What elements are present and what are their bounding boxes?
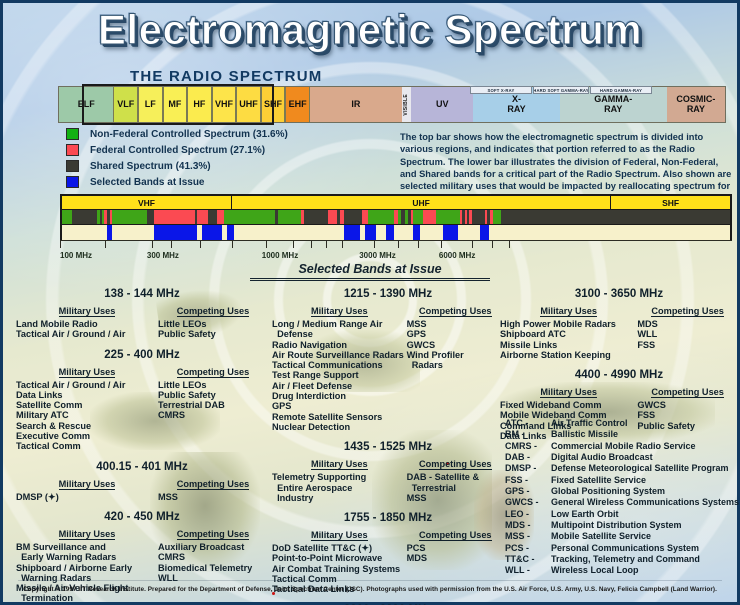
acronym-row: LEO -Low Earth Orbit xyxy=(505,509,739,520)
allocation-segment xyxy=(328,210,336,224)
acronym-key: WLL - xyxy=(505,565,551,576)
uses-column-header: Competing Uses xyxy=(419,306,492,317)
acronym-row: TT&C -Tracking, Telemetry and Command xyxy=(505,554,739,565)
subray-label: HARD GAMMA-RAY xyxy=(590,86,652,94)
acronym-row: FSS -Fixed Satellite Service xyxy=(505,475,739,486)
em-band-label: UHF xyxy=(239,100,258,109)
use-item: Drug Interdiction xyxy=(272,391,407,401)
uses-column: Military UsesTelemetry Supporting Entire… xyxy=(272,454,407,503)
band-uses-columns: Military UsesTelemetry Supporting Entire… xyxy=(272,454,504,503)
acronym-row: PCS -Personal Communications System xyxy=(505,543,739,554)
axis-label: 6000 MHz xyxy=(439,251,475,260)
legend-row: Federal Controlled Spectrum (27.1%) xyxy=(66,144,396,156)
band-uses-columns: Military UsesLong / Medium Range Air Def… xyxy=(272,301,504,432)
uses-column-header: Military Uses xyxy=(311,530,368,541)
acronym-key: MDS - xyxy=(505,520,551,531)
acronym-row: DAB -Digital Audio Broadcast xyxy=(505,452,739,463)
use-item: WLL xyxy=(637,329,738,339)
em-band-label: VLF xyxy=(117,100,134,109)
legend-swatch xyxy=(66,144,79,156)
acronym-row: MSS -Mobile Satellite Service xyxy=(505,531,739,542)
use-item: GPS xyxy=(407,329,504,339)
axis-label: 1000 MHz xyxy=(262,251,298,260)
allocation-segment xyxy=(62,210,72,224)
acronym-key: MSS - xyxy=(505,531,551,542)
band-block: 138 - 144 MHzMilitary UsesLand Mobile Ra… xyxy=(16,288,268,340)
use-item: Air Combat Training Systems xyxy=(272,564,407,574)
axis-label: 300 MHz xyxy=(147,251,179,260)
allocation-chart: VHFUHFSHF 100 MHz300 MHz1000 MHz3000 MHz… xyxy=(60,194,732,263)
legend-label: Selected Bands at Issue xyxy=(90,177,205,188)
use-item: Wind Profiler xyxy=(407,350,504,360)
allocation-segment xyxy=(224,210,275,224)
selected-bands-row xyxy=(62,225,730,240)
axis-tick xyxy=(293,240,294,248)
use-item: Test Range Support xyxy=(272,370,407,380)
band-frequency-title: 138 - 144 MHz xyxy=(16,288,268,300)
band-block: 1215 - 1390 MHzMilitary UsesLong / Mediu… xyxy=(272,288,504,432)
page-title: Electromagnetic Spectrum xyxy=(0,6,740,54)
legend-label: Shared Spectrum (41.3%) xyxy=(90,161,211,172)
axis-tick xyxy=(105,240,106,248)
uses-column: Competing UsesPCSMDS xyxy=(407,525,504,594)
spectrum-legend: Non-Federal Controlled Spectrum (31.6%)F… xyxy=(66,128,396,192)
use-item: Industry xyxy=(272,493,407,503)
use-item: High Power Mobile Radars xyxy=(500,319,637,329)
allocation-segment xyxy=(278,210,301,224)
use-item: FSS xyxy=(637,340,738,350)
uses-column-header: Military Uses xyxy=(540,306,597,317)
band-block: 3100 - 3650 MHzMilitary UsesHigh Power M… xyxy=(500,288,738,360)
axis-tick xyxy=(171,240,172,248)
use-item: Telemetry Supporting xyxy=(272,472,407,482)
acronym-glossary: ATC -Air Traffic ControlBM -Ballistic Mi… xyxy=(505,418,739,577)
allocation-segment xyxy=(344,210,362,224)
band-frequency-title: 420 - 450 MHz xyxy=(16,511,268,523)
em-band-vlf: VLF xyxy=(113,87,138,122)
band-frequency-title: 1435 - 1525 MHz xyxy=(272,441,504,453)
band-label-row: VHFUHFSHF xyxy=(62,196,730,210)
uses-column: Competing UsesMSS xyxy=(158,474,268,502)
uses-column: Competing UsesLittle LEOsPublic Safety xyxy=(158,301,268,340)
uses-column: Military UsesHigh Power Mobile RadarsShi… xyxy=(500,301,637,360)
use-item: DoD Satellite TT&C (✦) xyxy=(272,543,407,553)
acronym-row: WLL -Wireless Local Loop xyxy=(505,565,739,576)
use-item: Little LEOs xyxy=(158,380,268,390)
allocation-segment xyxy=(493,210,501,224)
acronym-value: Multipoint Distribution System xyxy=(551,520,739,531)
axis-tick xyxy=(200,240,201,248)
selected-band-segment xyxy=(154,225,197,240)
use-item: Tactical Air / Ground / Air xyxy=(16,380,158,390)
em-band-lf: LF xyxy=(138,87,163,122)
legend-row: Shared Spectrum (41.3%) xyxy=(66,160,396,172)
subray-label: SOFT X-RAY xyxy=(470,86,532,94)
use-item: Tactical Air / Ground / Air xyxy=(16,329,158,339)
band-block: 1755 - 1850 MHzMilitary UsesDoD Satellit… xyxy=(272,512,504,594)
allocation-segment xyxy=(147,210,154,224)
axis-tick xyxy=(326,240,327,248)
acronym-key: TT&C - xyxy=(505,554,551,565)
axis-tick xyxy=(266,240,267,248)
footer-divider xyxy=(18,580,722,581)
selected-band-segment xyxy=(413,225,420,240)
band-uses-columns: Military UsesDMSP (✦)Competing UsesMSS xyxy=(16,474,268,502)
acronym-value: Commercial Mobile Radio Service xyxy=(551,441,739,452)
use-item: CMRS xyxy=(158,410,268,420)
alloc-band-uhf: UHF xyxy=(232,196,611,209)
allocation-segment xyxy=(423,210,436,224)
acronym-row: ATC -Air Traffic Control xyxy=(505,418,739,429)
use-item: Executive Comm xyxy=(16,431,158,441)
band-uses-columns: Military UsesLand Mobile RadioTactical A… xyxy=(16,301,268,340)
radio-spectrum-subtitle: THE RADIO SPECTRUM xyxy=(130,68,322,85)
uses-column-header: Competing Uses xyxy=(177,367,250,378)
uses-column-header: Competing Uses xyxy=(419,530,492,541)
uses-column: Military UsesDMSP (✦) xyxy=(16,474,158,502)
em-band-label: X- RAY xyxy=(507,95,525,114)
em-band-label: SHF xyxy=(264,100,282,109)
allocation-segment xyxy=(368,210,395,224)
acronym-key: FSS - xyxy=(505,475,551,486)
uses-column-header: Military Uses xyxy=(311,459,368,470)
em-band-hf: HF xyxy=(187,87,212,122)
em-band-vhf: VHF xyxy=(212,87,237,122)
allocation-segment xyxy=(413,210,423,224)
uses-column-header: Military Uses xyxy=(311,306,368,317)
uses-column-header: Competing Uses xyxy=(651,387,724,398)
uses-column-header: Competing Uses xyxy=(419,459,492,470)
use-item: Shipboard ATC xyxy=(500,329,637,339)
band-column-2: 1215 - 1390 MHzMilitary UsesLong / Mediu… xyxy=(272,288,504,605)
allocation-segment xyxy=(217,210,224,224)
selected-band-segment xyxy=(202,225,222,240)
em-band-elf: ELF xyxy=(59,87,113,122)
uses-column-header: Competing Uses xyxy=(177,529,250,540)
acronym-value: Fixed Satellite Service xyxy=(551,475,739,486)
axis-label: 100 MHz xyxy=(60,251,92,260)
uses-column-header: Military Uses xyxy=(59,529,116,540)
use-item: MSS xyxy=(407,319,504,329)
selected-bands-heading: Selected Bands at Issue xyxy=(0,262,740,276)
em-band-uhf: UHF xyxy=(236,87,261,122)
use-item: MSS xyxy=(407,493,504,503)
frequency-axis xyxy=(60,240,732,251)
band-block: 225 - 400 MHzMilitary UsesTactical Air /… xyxy=(16,349,268,452)
allocation-segments-row xyxy=(62,210,730,225)
uses-column: Military UsesTactical Air / Ground / Air… xyxy=(16,362,158,452)
acronym-row: CMRS -Commercial Mobile Radio Service xyxy=(505,441,739,452)
uses-column: Competing UsesDAB - Satellite & Terrestr… xyxy=(407,454,504,503)
axis-tick xyxy=(472,240,473,248)
acronym-value: General Wireless Communications Systems xyxy=(551,497,739,508)
axis-tick xyxy=(492,240,493,248)
legend-row: Selected Bands at Issue xyxy=(66,176,396,188)
acronym-value: Defense Meteorological Satellite Program xyxy=(551,463,739,474)
em-band-label: IR xyxy=(351,100,360,109)
legend-label: Federal Controlled Spectrum (27.1%) xyxy=(90,145,265,156)
use-item: Air / Fleet Defense xyxy=(272,381,407,391)
em-band-mf: MF xyxy=(163,87,188,122)
acronym-key: GPS - xyxy=(505,486,551,497)
use-item: Early Warning Radars xyxy=(16,552,158,562)
use-item: MSS xyxy=(158,492,268,502)
band-frequency-title: 225 - 400 MHz xyxy=(16,349,268,361)
acronym-key: CMRS - xyxy=(505,441,551,452)
acronym-row: MDS -Multipoint Distribution System xyxy=(505,520,739,531)
copyright-footer: Copyright © 1997 IIT Research Institute.… xyxy=(0,586,740,593)
use-item: Entire Aerospace xyxy=(272,483,407,493)
acronym-key: ATC - xyxy=(505,418,551,429)
use-item: Public Safety xyxy=(158,390,268,400)
use-item: Little LEOs xyxy=(158,319,268,329)
legend-swatch xyxy=(66,176,79,188)
alloc-band-shf: SHF xyxy=(611,196,730,209)
em-band-uv: UV xyxy=(411,87,473,122)
use-item: GWCS xyxy=(637,400,738,410)
use-item: Data Links xyxy=(16,390,158,400)
selected-band-segment xyxy=(344,225,360,240)
use-item: CMRS xyxy=(158,552,268,562)
use-item: Search & Rescue xyxy=(16,421,158,431)
em-band-ehf: EHF xyxy=(285,87,310,122)
axis-line xyxy=(60,240,732,241)
acronym-value: Wireless Local Loop xyxy=(551,565,739,576)
use-item: Radio Navigation xyxy=(272,340,407,350)
acronym-value: Global Positioning System xyxy=(551,486,739,497)
em-band-label: ELF xyxy=(78,100,95,109)
allocation-segment xyxy=(197,210,208,224)
axis-tick xyxy=(374,240,375,248)
use-item: Terrestrial xyxy=(407,483,504,493)
use-item: Long / Medium Range Air xyxy=(272,319,407,329)
allocation-segment xyxy=(304,210,328,224)
acronym-value: Air Traffic Control xyxy=(551,418,739,429)
use-item: Defense xyxy=(272,329,407,339)
use-item: Tactical Comm xyxy=(16,441,158,451)
band-frequency-title: 400.15 - 401 MHz xyxy=(16,461,268,473)
selected-band-segment xyxy=(386,225,393,240)
band-frequency-title: 4400 - 4990 MHz xyxy=(500,369,738,381)
selected-band-segment xyxy=(365,225,377,240)
uses-column-header: Competing Uses xyxy=(177,479,250,490)
axis-tick xyxy=(60,240,61,248)
uses-column-header: Military Uses xyxy=(540,387,597,398)
axis-tick xyxy=(509,240,510,248)
band-uses-columns: Military UsesHigh Power Mobile RadarsShi… xyxy=(500,301,738,360)
acronym-row: GPS -Global Positioning System xyxy=(505,486,739,497)
em-band-label: GAMMA- RAY xyxy=(594,95,632,114)
use-item: DAB - Satellite & xyxy=(407,472,504,482)
use-item: Shipboard / Airborne Early xyxy=(16,563,158,573)
em-band-cosmic-ray: COSMIC- RAY xyxy=(667,87,725,122)
acronym-key: LEO - xyxy=(505,509,551,520)
allocation-segment xyxy=(436,210,460,224)
alloc-band-vhf: VHF xyxy=(62,196,232,209)
em-band-shf: SHF xyxy=(261,87,286,122)
uses-column: Competing UsesMDSWLLFSS xyxy=(637,301,738,360)
uses-column-header: Military Uses xyxy=(59,367,116,378)
use-item: PCS xyxy=(407,543,504,553)
em-band-label: LF xyxy=(145,100,156,109)
use-item: MDS xyxy=(407,553,504,563)
axis-tick xyxy=(398,240,399,248)
selected-band-segment xyxy=(443,225,457,240)
acronym-value: Ballistic Missile xyxy=(551,429,739,440)
use-item: Public Safety xyxy=(158,329,268,339)
use-item: Airborne Station Keeping xyxy=(500,350,637,360)
em-band-label: VHF xyxy=(215,100,233,109)
uses-column-header: Military Uses xyxy=(59,306,116,317)
use-item: Remote Satellite Sensors xyxy=(272,412,407,422)
selected-band-segment xyxy=(480,225,489,240)
subray-label: HARD SOFT GAMMA-RAY xyxy=(533,86,589,94)
allocation-segment xyxy=(112,210,147,224)
axis-tick xyxy=(152,240,153,248)
allocation-segment xyxy=(208,210,218,224)
acronym-row: BM -Ballistic Missile xyxy=(505,429,739,440)
band-column-1: 138 - 144 MHzMilitary UsesLand Mobile Ra… xyxy=(16,288,268,605)
use-item: Auxiliary Broadcast xyxy=(158,542,268,552)
use-item: Fixed Wideband Comm xyxy=(500,400,637,410)
band-uses-columns: Military UsesTactical Air / Ground / Air… xyxy=(16,362,268,452)
allocation-segment xyxy=(72,210,97,224)
use-item: BM Surveillance and xyxy=(16,542,158,552)
use-item: DMSP (✦) xyxy=(16,492,158,502)
uses-column-header: Competing Uses xyxy=(177,306,250,317)
use-item: Missile Links xyxy=(500,340,637,350)
acronym-row: DMSP -Defense Meteorological Satellite P… xyxy=(505,463,739,474)
selected-band-segment xyxy=(107,225,112,240)
em-band-ir: IR xyxy=(310,87,402,122)
uses-column-header: Competing Uses xyxy=(651,306,724,317)
use-item: Land Mobile Radio xyxy=(16,319,158,329)
acronym-value: Digital Audio Broadcast xyxy=(551,452,739,463)
acronym-value: Personal Communications System xyxy=(551,543,739,554)
band-block: 1435 - 1525 MHzMilitary UsesTelemetry Su… xyxy=(272,441,504,503)
allocation-segment xyxy=(475,210,485,224)
uses-column: Military UsesDoD Satellite TT&C (✦)Point… xyxy=(272,525,407,594)
use-item: WLL xyxy=(158,573,268,583)
uses-column: Competing UsesLittle LEOsPublic SafetyTe… xyxy=(158,362,268,452)
acronym-value: Tracking, Telemetry and Command xyxy=(551,554,739,565)
legend-row: Non-Federal Controlled Spectrum (31.6%) xyxy=(66,128,396,140)
acronym-key: DAB - xyxy=(505,452,551,463)
acronym-key: BM - xyxy=(505,429,551,440)
acronym-key: DMSP - xyxy=(505,463,551,474)
legend-swatch xyxy=(66,128,79,140)
use-item: GWCS xyxy=(407,340,504,350)
selected-bands-underline xyxy=(250,278,490,281)
use-item: Warning Radars xyxy=(16,573,158,583)
em-band-label: HF xyxy=(193,100,205,109)
acronym-key: PCS - xyxy=(505,543,551,554)
axis-tick xyxy=(311,240,312,248)
em-band-label: EHF xyxy=(289,100,307,109)
use-item: Nuclear Detection xyxy=(272,422,407,432)
use-item: Tactical Communications xyxy=(272,360,407,370)
acronym-value: Low Earth Orbit xyxy=(551,509,739,520)
acronym-key: GWCS - xyxy=(505,497,551,508)
axis-tick xyxy=(342,240,343,248)
em-band-label: VISIBLE xyxy=(404,94,409,116)
uses-column: Military UsesLand Mobile RadioTactical A… xyxy=(16,301,158,340)
uses-column: Military UsesLong / Medium Range Air Def… xyxy=(272,301,407,432)
band-frequency-title: 3100 - 3650 MHz xyxy=(500,288,738,300)
em-band-label: MF xyxy=(168,100,181,109)
use-item: Satellite Comm xyxy=(16,400,158,410)
em-band-label: UV xyxy=(436,100,449,109)
band-frequency-title: 1215 - 1390 MHz xyxy=(272,288,504,300)
legend-swatch xyxy=(66,160,79,172)
use-item: GPS xyxy=(272,401,407,411)
axis-label: 3000 MHz xyxy=(359,251,395,260)
use-item: Military ATC xyxy=(16,410,158,420)
legend-label: Non-Federal Controlled Spectrum (31.6%) xyxy=(90,129,288,140)
use-item: Radars xyxy=(407,360,504,370)
uses-column-header: Military Uses xyxy=(59,479,116,490)
use-item: Termination xyxy=(16,593,158,603)
acronym-value: Mobile Satellite Service xyxy=(551,531,739,542)
acronym-row: GWCS -General Wireless Communications Sy… xyxy=(505,497,739,508)
uses-column: Competing UsesMSSGPSGWCSWind Profiler Ra… xyxy=(407,301,504,432)
use-item: Terrestrial DAB xyxy=(158,400,268,410)
axis-tick xyxy=(441,240,442,248)
band-uses-columns: Military UsesDoD Satellite TT&C (✦)Point… xyxy=(272,525,504,594)
band-block: 400.15 - 401 MHzMilitary UsesDMSP (✦)Com… xyxy=(16,461,268,502)
use-item: Point-to-Point Microwave xyxy=(272,553,407,563)
use-item: MDS xyxy=(637,319,738,329)
use-item: Air Route Surveillance Radars xyxy=(272,350,407,360)
allocation-segment xyxy=(154,210,195,224)
axis-tick xyxy=(418,240,419,248)
selected-band-segment xyxy=(227,225,234,240)
em-band-visible: VISIBLE xyxy=(402,87,411,122)
em-band-label: COSMIC- RAY xyxy=(676,95,715,114)
allocation-bar: VHFUHFSHF xyxy=(60,194,732,240)
axis-tick xyxy=(232,240,233,248)
poster-canvas: Electromagnetic Spectrum THE RADIO SPECT… xyxy=(0,0,740,605)
use-item: Biomedical Telemetry xyxy=(158,563,268,573)
band-frequency-title: 1755 - 1850 MHz xyxy=(272,512,504,524)
